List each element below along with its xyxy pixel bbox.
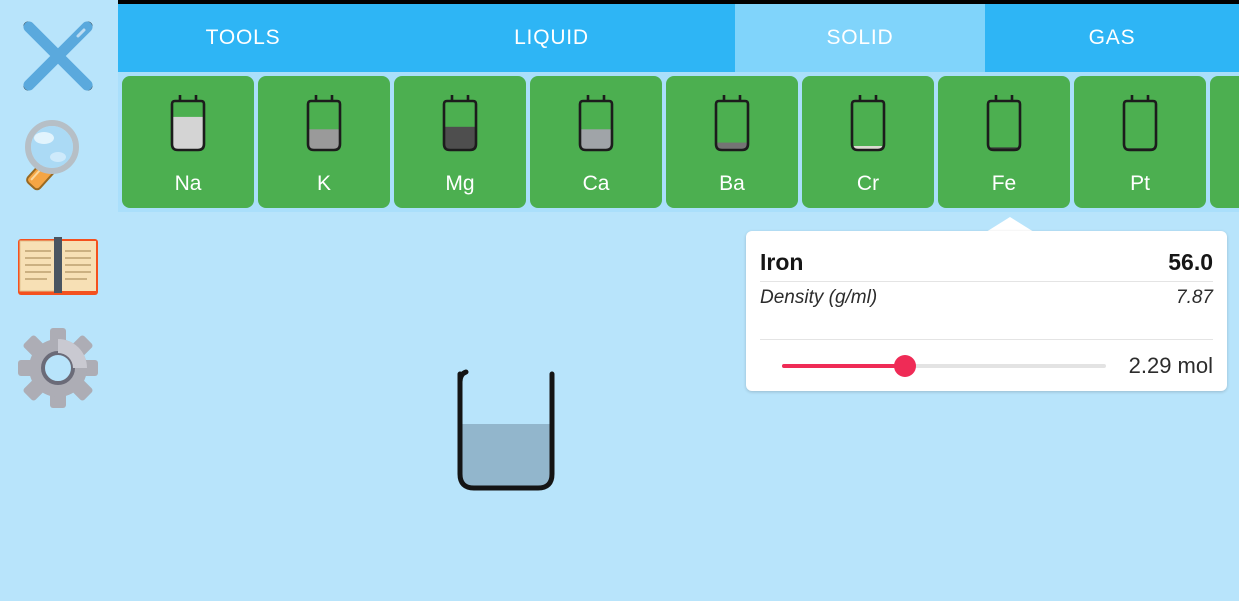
sidebar-item-magnify[interactable] [8,107,108,207]
element-card-label: Pt [1074,172,1206,196]
element-card-ca[interactable]: Ca [530,76,662,208]
element-card-label: Ca [530,172,662,196]
beaker-icon [709,92,755,158]
tab-bar: TOOLS LIQUID SOLID GAS [118,0,1239,72]
element-card-fe[interactable]: Fe [938,76,1070,208]
beaker-icon [301,92,347,158]
app-root: TOOLS LIQUID SOLID GAS Na [0,0,1239,601]
beaker-icon [452,483,560,500]
element-card-mg[interactable]: Mg [394,76,526,208]
tab-tools[interactable]: TOOLS [118,0,368,72]
magnifier-icon [14,113,102,201]
element-card-strip[interactable]: Na K [118,72,1239,212]
beaker-icon [165,92,211,158]
tab-gas[interactable]: GAS [985,0,1239,72]
beaker-icon [573,92,619,158]
tab-solid[interactable]: SOLID [735,0,985,72]
beaker-icon [845,92,891,158]
popup-title-row: Iron 56.0 [760,249,1213,276]
popup-element-name: Iron [760,249,803,276]
element-card-ba[interactable]: Ba [666,76,798,208]
element-card-na[interactable]: Na [122,76,254,208]
element-card-label: Mg [394,172,526,196]
element-card-pt[interactable]: Pt [1074,76,1206,208]
popup-amount-row: 2.29 mol [760,349,1213,383]
sidebar-item-close-tools[interactable] [8,6,108,106]
beaker-icon [437,92,483,158]
slider-thumb[interactable] [894,355,916,377]
popup-divider [760,339,1213,340]
element-card-k[interactable]: K [258,76,390,208]
element-card-label: Na [122,172,254,196]
popup-arrow [986,217,1034,232]
x-cross-icon [12,10,104,102]
element-card-label: Fe [938,172,1070,196]
element-card-label: Ba [666,172,798,196]
popup-divider [760,281,1213,282]
beaker-icon [981,92,1027,158]
popup-density-row: Density (g/ml) 7.87 [760,287,1213,309]
sidebar-item-settings[interactable] [8,318,108,418]
element-card-cr[interactable]: Cr [802,76,934,208]
element-info-popup: Iron 56.0 Density (g/ml) 7.87 2.29 mol [746,231,1227,391]
amount-slider[interactable] [782,355,1106,377]
beaker-icon [1117,92,1163,158]
sidebar-item-book[interactable] [8,216,108,316]
gear-icon [14,324,102,412]
element-card-next-partial[interactable] [1210,76,1239,208]
popup-density-value: 7.87 [1176,287,1213,309]
element-card-label: Cr [802,172,934,196]
tab-liquid[interactable]: LIQUID [368,0,735,72]
element-card-label: K [258,172,390,196]
slider-fill [782,364,905,368]
left-sidebar [0,0,116,601]
amount-value: 2.29 mol [1129,353,1213,379]
open-book-icon [14,231,102,301]
popup-density-label: Density (g/ml) [760,287,877,309]
popup-atomic-mass: 56.0 [1168,249,1213,276]
workspace-beaker[interactable] [452,368,560,496]
